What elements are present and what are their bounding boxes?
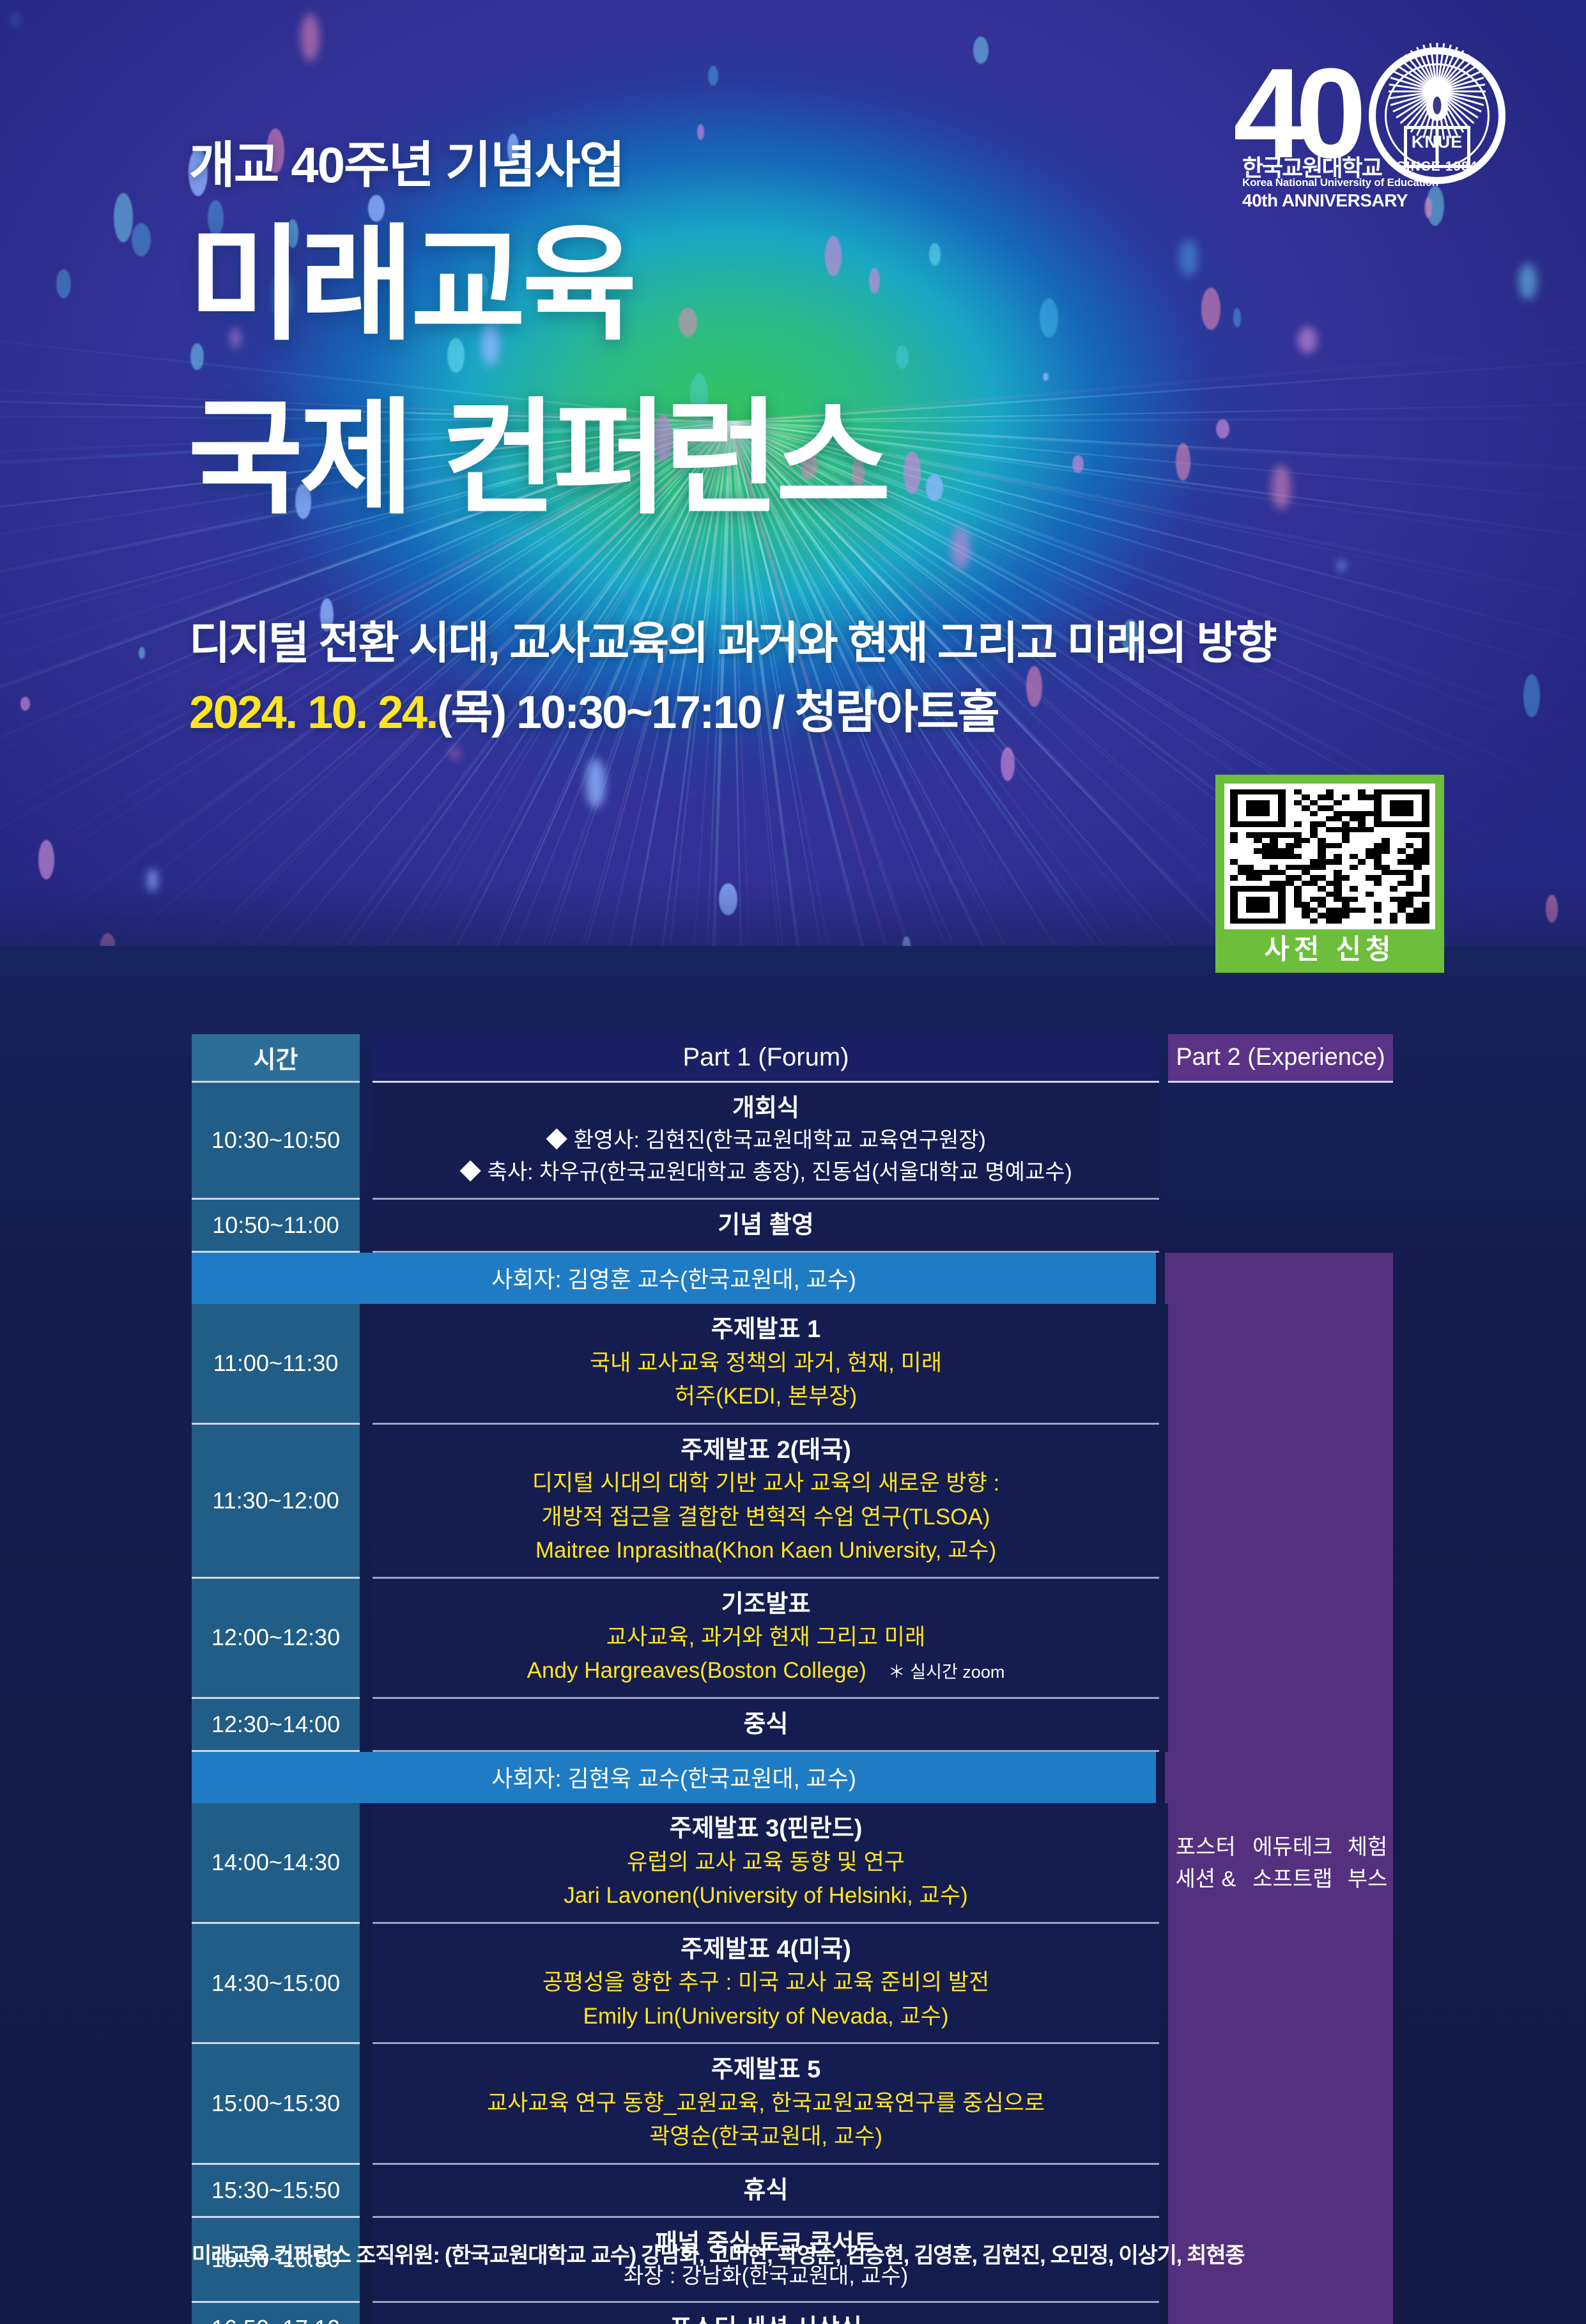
date-line: 2024. 10. 24.(목) 10:30~17:10 / 청람아트홀 [189,674,998,741]
session-note: ＊ 실시간 zoom [888,1658,1005,1683]
program-cell: 주제발표 2(태국)디지털 시대의 대학 기반 교사 교육의 새로운 방향 :개… [373,1425,1159,1579]
session-title: 주제발표 1 [711,1313,821,1346]
qr-code-icon[interactable] [1224,784,1435,929]
date-highlight: 2024. 10. 24. [189,687,437,738]
time-cell: 12:00~12:30 [192,1579,360,1699]
table-row: 사회자: 김영훈 교수(한국교원대, 교수) [192,1253,1393,1304]
part2-cell [1168,1425,1393,1579]
table-row: 사회자: 김현욱 교수(한국교원대, 교수) [192,1752,1393,1803]
session-title: 휴식 [744,2174,789,2207]
header-cell-part2: Part 2 (Experience) [1168,1034,1393,1083]
moderator-banner: 사회자: 김현욱 교수(한국교원대, 교수) [192,1752,1156,1803]
session-detail: 허주(KEDI, 본부장) [675,1380,857,1414]
qr-label: 사전 신청 [1224,929,1435,972]
table-row: 14:00~14:30 주제발표 3(핀란드)유럽의 교사 교육 동향 및 연구… [192,1803,1393,1923]
session-speaker: Andy Hargreaves(Boston College) [527,1654,866,1688]
knue-40th-logo: 40 한국교원대학교 Korea National University of … [1233,33,1553,180]
moderator-banner: 사회자: 김영훈 교수(한국교원대, 교수) [192,1253,1156,1304]
time-cell: 10:50~11:00 [192,1200,360,1253]
table-row: 12:30~14:00 중식 [192,1699,1393,1752]
time-cell: 12:30~14:00 [192,1699,360,1752]
date-rest: (목) 10:30~17:10 / 청람아트홀 [437,687,998,738]
time-cell: 14:00~14:30 [192,1803,360,1923]
schedule-table: 시간 Part 1 (Forum) Part 2 (Experience) 10… [192,1034,1393,2324]
part2-cell [1168,1200,1393,1253]
time-cell: 16:50~17:10 [192,2303,360,2324]
table-row: 10:30~10:50 개회식◆ 환영사: 김현진(한국교원대학교 교육연구원장… [192,1083,1393,1200]
session-title: 기조발표 [721,1588,811,1621]
time-cell: 15:30~15:50 [192,2165,360,2218]
time-cell: 11:30~12:00 [192,1425,360,1579]
registration-qr-block[interactable]: 사전 신청 [1215,775,1444,973]
program-cell: 기념 촬영 [373,1200,1159,1253]
table-row: 14:30~15:00 주제발표 4(미국)공평성을 향한 추구 : 미국 교사… [192,1924,1393,2044]
time-cell: 15:00~15:30 [192,2044,360,2164]
session-detail: 교사교육, 과거와 현재 그리고 미래 [606,1621,925,1655]
session-title: 주제발표 5 [711,2053,821,2086]
session-detail: 유럽의 교사 교육 동향 및 연구 [627,1846,905,1880]
kicker-text: 개교 40주년 기념사업 [189,125,624,197]
session-detail: Maitree Inprasitha(Khon Kaen University,… [535,1534,996,1568]
session-title: 개회식 [732,1092,799,1125]
seal-since-text: SINCE 1984 [1397,159,1478,174]
part2-cell [1168,1304,1393,1424]
session-title: 주제발표 3(핀란드) [670,1812,863,1845]
part2-cell: 포스터 세션 &에듀테크 소프트랩체험 부스 [1168,1803,1393,1923]
table-row: 11:30~12:00 주제발표 2(태국)디지털 시대의 대학 기반 교사 교… [192,1425,1393,1579]
table-row: 15:00~15:30 주제발표 5교사교육 연구 동향_교원교육, 한국교원교… [192,2044,1393,2164]
part2-cell [1165,1253,1393,1304]
program-cell: 휴식 [373,2165,1159,2218]
session-detail: Emily Lin(University of Nevada, 교수) [583,2000,948,2034]
session-detail: 공평성을 향한 추구 : 미국 교사 교육 준비의 발전 [543,1966,989,2000]
session-detail: 국내 교사교육 정책의 과거, 현재, 미래 [590,1347,942,1381]
part2-cell [1168,2165,1393,2218]
session-detail: 교사교육 연구 동향_교원교육, 한국교원교육연구를 중심으로 [487,2087,1045,2121]
poster-root: 개교 40주년 기념사업 미래교육 국제 컨퍼런스 디지털 전환 시대, 교사교… [0,0,1586,2324]
program-cell: 주제발표 1국내 교사교육 정책의 과거, 현재, 미래허주(KEDI, 본부장… [373,1304,1159,1424]
poster-subtitle: 디지털 전환 시대, 교사교육의 과거와 현재 그리고 미래의 방향 [189,607,1275,672]
session-title: 포스터 세션 시상식 [670,2312,862,2324]
time-cell: 11:00~11:30 [192,1304,360,1424]
program-cell: 개회식◆ 환영사: 김현진(한국교원대학교 교육연구원장)◆ 축사: 차우규(한… [373,1083,1159,1200]
session-detail: Jari Lavonen(University of Helsinki, 교수) [564,1879,967,1913]
time-cell: 10:30~10:50 [192,1083,360,1200]
part2-cell [1168,1579,1393,1699]
session-detail: 곽영순(한국교원대, 교수) [649,2120,882,2154]
session-title: 기념 촬영 [718,1209,813,1242]
table-header-row: 시간 Part 1 (Forum) Part 2 (Experience) [192,1034,1393,1083]
part2-cell [1168,2044,1393,2164]
session-detail: 디지털 시대의 대학 기반 교사 교육의 새로운 방향 : [532,1467,1000,1501]
table-row: 16:50~17:10 포스터 세션 시상식 [192,2303,1393,2324]
time-cell: 14:30~15:00 [192,1924,360,2044]
session-title: 주제발표 4(미국) [681,1933,851,1966]
session-title: 중식 [744,1708,789,1741]
poster-title-line1: 미래교육 [188,222,633,348]
part2-cell [1168,1699,1393,1752]
logo-anniversary-text: 40th ANNIVERSARY [1242,190,1408,211]
part2-cell [1168,1083,1393,1200]
header-cell-part1: Part 1 (Forum) [373,1034,1159,1083]
part2-cell [1168,1924,1393,2044]
table-row: 11:00~11:30 주제발표 1국내 교사교육 정책의 과거, 현재, 미래… [192,1304,1393,1424]
session-detail: ◆ 환영사: 김현진(한국교원대학교 교육연구원장) [546,1125,986,1157]
session-detail: ◆ 축사: 차우규(한국교원대학교 총장), 진동섭(서울대학교 명예교수) [459,1157,1072,1189]
program-cell: 주제발표 4(미국)공평성을 향한 추구 : 미국 교사 교육 준비의 발전Em… [373,1924,1159,2044]
session-title: 주제발표 2(태국) [681,1434,851,1467]
program-cell: 주제발표 5교사교육 연구 동향_교원교육, 한국교원교육연구를 중심으로곽영순… [373,2044,1159,2164]
part2-cell [1165,1752,1393,1803]
program-cell: 중식 [373,1699,1159,1752]
seal-acronym: KNUE [1412,132,1463,152]
program-cell: 기조발표교사교육, 과거와 현재 그리고 미래Andy Hargreaves(B… [373,1579,1159,1699]
poster-title-line2: 국제 컨퍼런스 [188,396,887,522]
part2-cell [1168,2303,1393,2324]
program-cell: 포스터 세션 시상식 [373,2303,1159,2324]
header-cell-time: 시간 [192,1034,360,1083]
knue-seal-icon: KNUE SINCE 1984 [1369,47,1505,184]
table-row: 12:00~12:30 기조발표교사교육, 과거와 현재 그리고 미래Andy … [192,1579,1393,1699]
program-cell: 주제발표 3(핀란드)유럽의 교사 교육 동향 및 연구Jari Lavonen… [373,1803,1159,1923]
table-row: 10:50~11:00 기념 촬영 [192,1200,1393,1253]
logo-university-en: Korea National University of Education [1242,176,1438,189]
table-row: 15:30~15:50 휴식 [192,2165,1393,2218]
session-detail: 개방적 접근을 결합한 변혁적 수업 연구(TLSOA) [542,1501,990,1535]
organizing-committee-footer: 미래교육 컨퍼런스 조직위원: (한국교원대학교 교수) 강남화, 고미현, 곽… [192,2238,1244,2269]
